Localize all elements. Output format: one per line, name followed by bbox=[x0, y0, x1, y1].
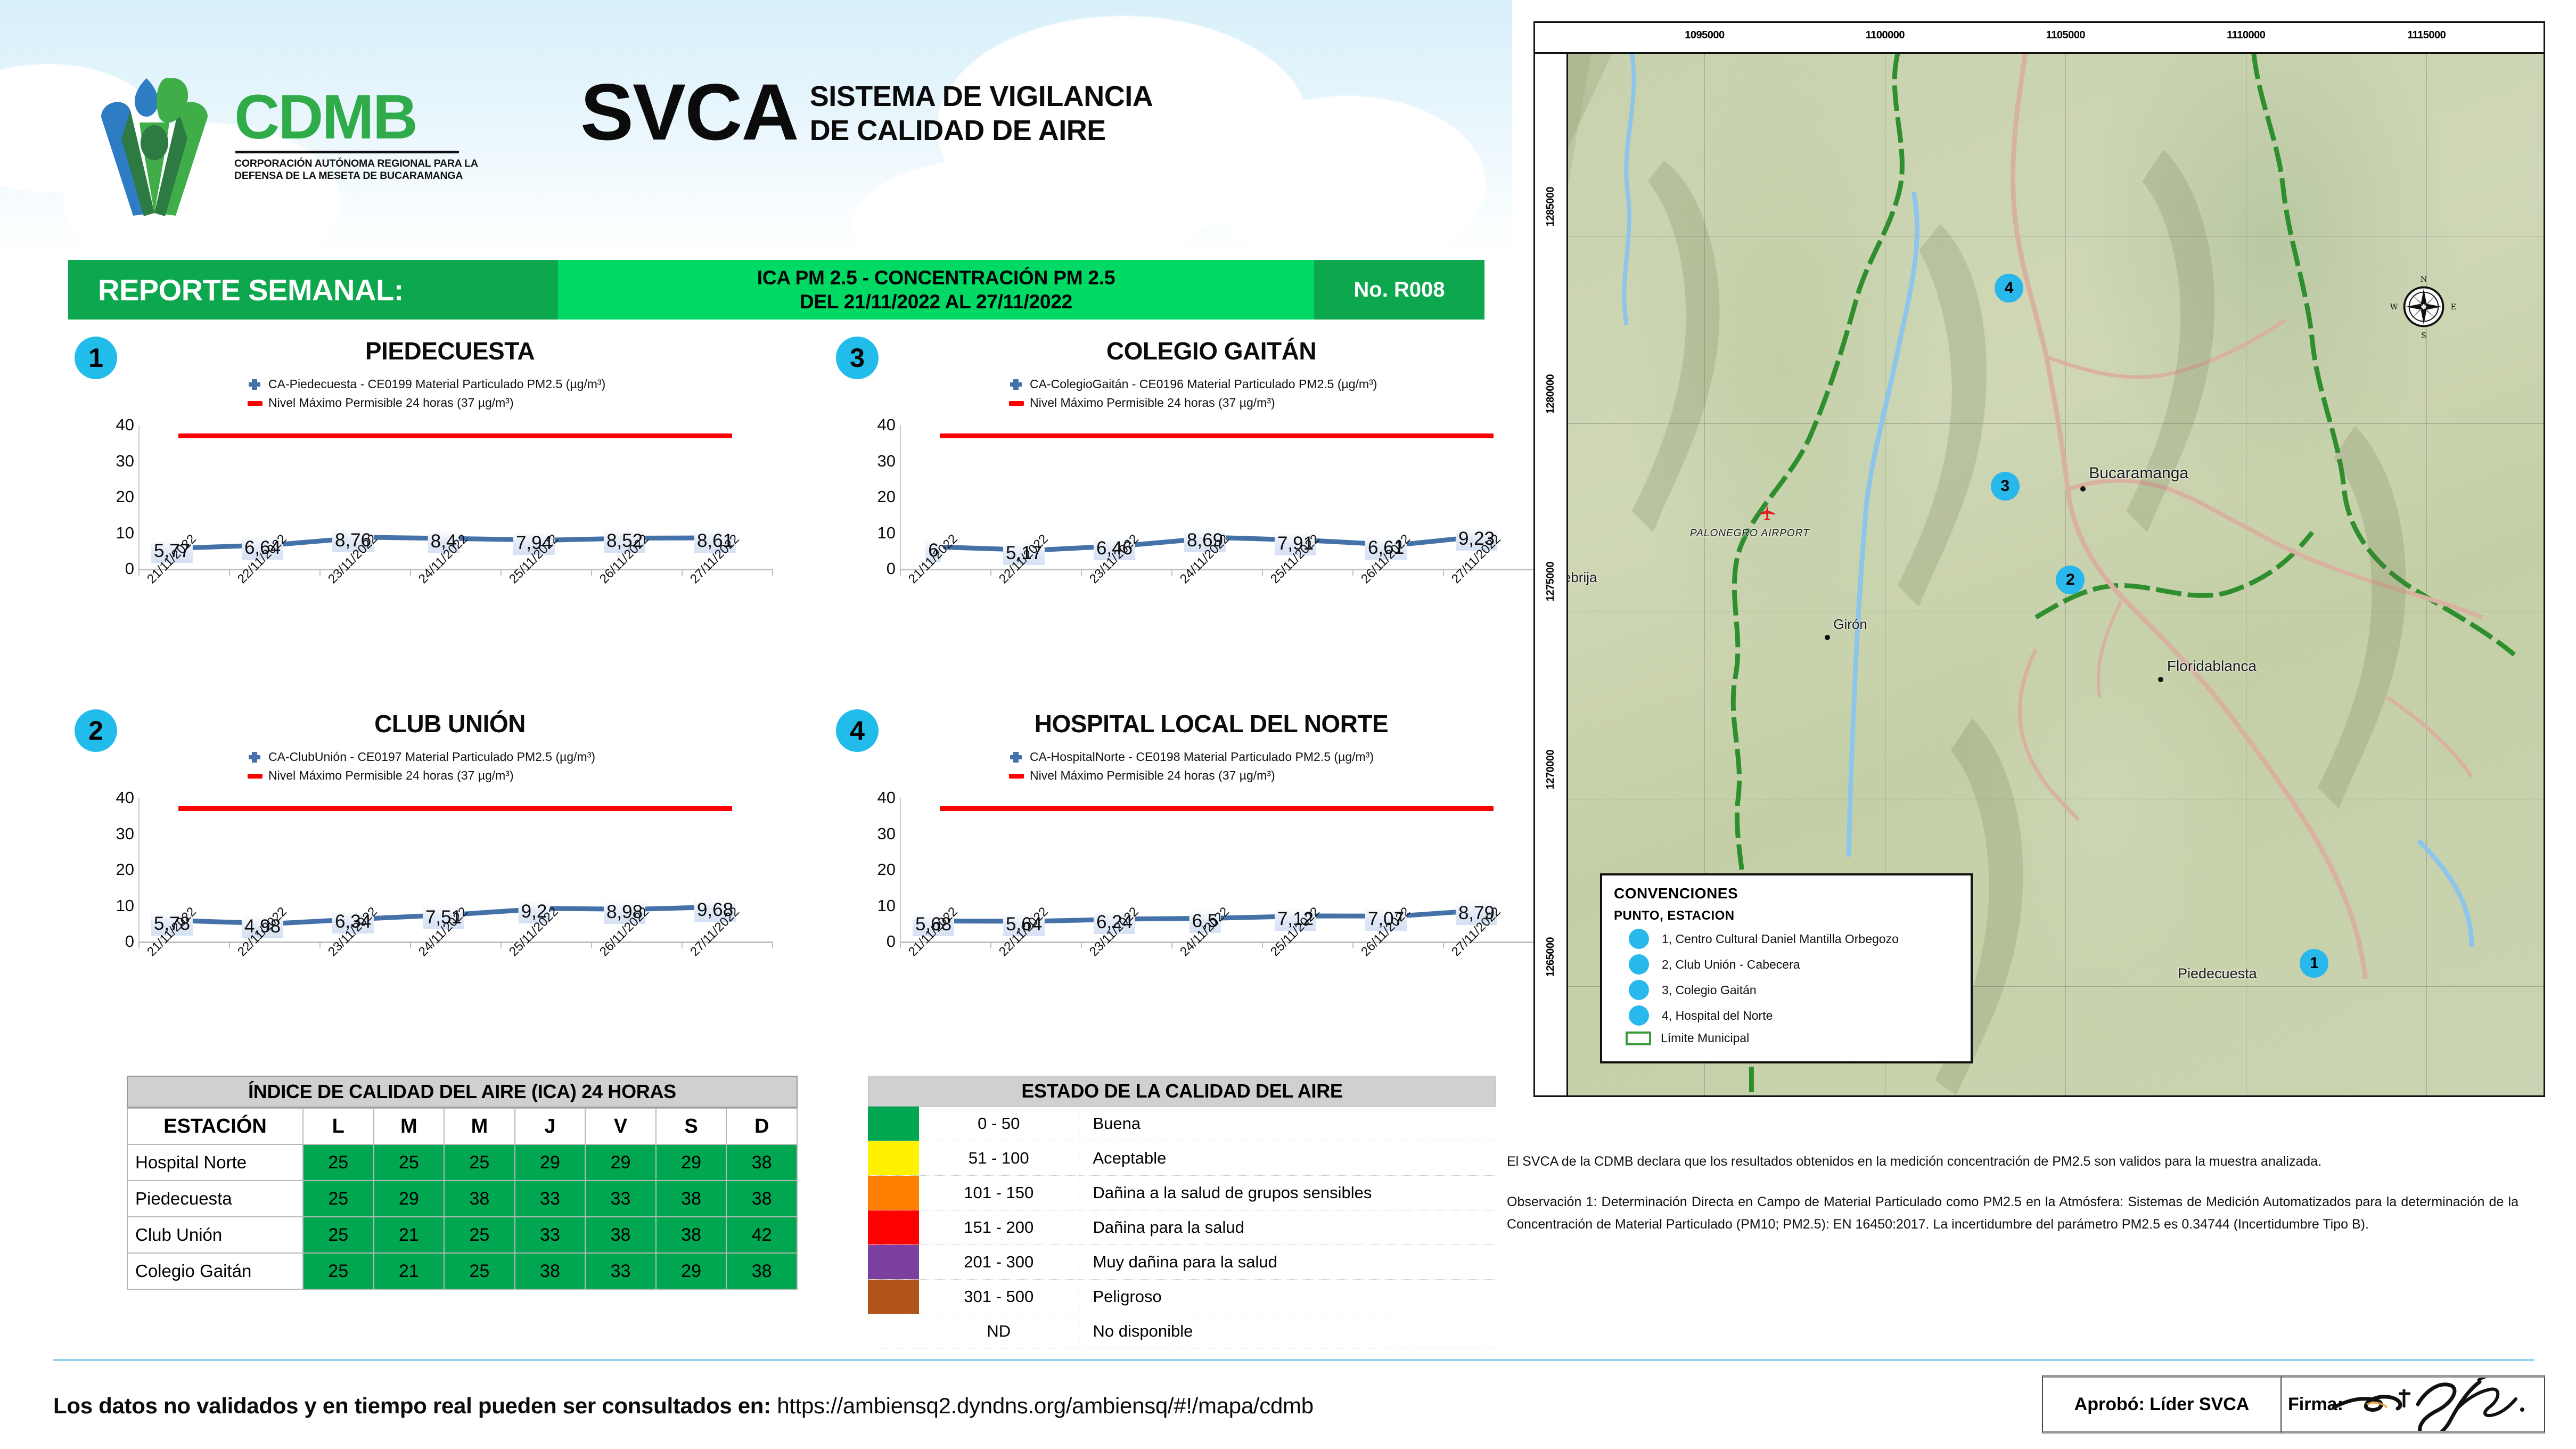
legend-entry-threshold: Nivel Máximo Permisible 24 horas (37 µg/… bbox=[248, 768, 595, 783]
chart-x-axis-labels: 21/11/202222/11/202223/11/202224/11/2022… bbox=[138, 576, 772, 661]
ica-table-grid: ESTACIÓNLMMJVSD Hospital Norte2525252929… bbox=[127, 1108, 798, 1290]
banner-report-number: No. R008 bbox=[1314, 260, 1484, 320]
map-station-marker-4[interactable]: 4 bbox=[1995, 274, 2023, 302]
list-item: NDNo disponible bbox=[868, 1314, 1496, 1348]
list-item: 301 - 500Peligroso bbox=[868, 1280, 1496, 1314]
ica-column-header: V bbox=[585, 1108, 656, 1144]
legend-entry-threshold: Nivel Máximo Permisible 24 horas (37 µg/… bbox=[1009, 768, 1374, 783]
list-item: 101 - 150Dañina a la salud de grupos sen… bbox=[868, 1176, 1496, 1210]
aq-range-label: 101 - 150 bbox=[919, 1176, 1079, 1210]
ica-value-cell: 38 bbox=[726, 1144, 797, 1181]
x-axis-tick bbox=[1081, 569, 1082, 576]
report-banner: REPORTE SEMANAL: ICA PM 2.5 - CONCENTRAC… bbox=[68, 260, 1484, 320]
x-axis-tick bbox=[591, 942, 592, 948]
x-axis-tick bbox=[682, 942, 683, 948]
banner-date-range: DEL 21/11/2022 AL 27/11/2022 bbox=[800, 290, 1072, 314]
table-row: Club Unión25212533383842 bbox=[127, 1217, 797, 1253]
ica-value-cell: 21 bbox=[374, 1253, 445, 1289]
x-axis-tick bbox=[990, 569, 991, 576]
x-axis-tick bbox=[1443, 569, 1444, 576]
chart-title: COLEGIO GAITÁN bbox=[905, 337, 1517, 365]
declaration-text: El SVCA de la CDMB declara que los resul… bbox=[1507, 1150, 2518, 1254]
conventions-station-row: 3, Colegio Gaitán bbox=[1629, 980, 1959, 1000]
ica-value-cell: 33 bbox=[515, 1217, 586, 1253]
chart-x-axis-labels: 21/11/202222/11/202223/11/202224/11/2022… bbox=[138, 949, 772, 1034]
list-item: 151 - 200Dañina para la salud bbox=[868, 1210, 1496, 1245]
chart-plot-area: 0102030405,776,648,768,47,948,528,6121/1… bbox=[96, 425, 772, 590]
ica-value-cell: 25 bbox=[444, 1144, 515, 1181]
chart-title: HOSPITAL LOCAL DEL NORTE bbox=[905, 709, 1517, 738]
declaration-paragraph-2: Observación 1: Determinación Directa en … bbox=[1507, 1191, 2518, 1235]
ica-value-cell: 25 bbox=[303, 1217, 374, 1253]
map-y-tick-label: 1285000 bbox=[1545, 187, 1557, 226]
list-item: 0 - 50Buena bbox=[868, 1107, 1496, 1141]
ica-column-header: L bbox=[303, 1108, 374, 1144]
station-location-map[interactable]: 10950001100000110500011100001115000 1285… bbox=[1533, 21, 2545, 1097]
chart-legend: CA-HospitalNorte - CE0198 Material Parti… bbox=[1009, 750, 1374, 787]
map-station-marker-1[interactable]: 1 bbox=[2300, 949, 2328, 978]
aq-range-label: ND bbox=[919, 1314, 1079, 1348]
city-dot-bucaramanga bbox=[2080, 486, 2086, 492]
chart-plot-area: 0102030405,685,646,246,57,127,078,7921/1… bbox=[857, 798, 1533, 963]
banner-parameter: ICA PM 2.5 - CONCENTRACIÓN PM 2.5 bbox=[757, 266, 1115, 290]
legend-entry-threshold: Nivel Máximo Permisible 24 horas (37 µg/… bbox=[248, 396, 605, 410]
conventions-station-row: 4, Hospital del Norte bbox=[1629, 1005, 1959, 1026]
series-marker-icon bbox=[1009, 378, 1023, 391]
legend-threshold-label: Nivel Máximo Permisible 24 horas (37 µg/… bbox=[268, 396, 514, 410]
aq-color-swatch bbox=[868, 1245, 919, 1280]
ica-value-cell: 21 bbox=[374, 1217, 445, 1253]
x-axis-tick bbox=[591, 569, 592, 576]
ica-value-cell: 38 bbox=[726, 1181, 797, 1217]
ica-value-cell: 42 bbox=[726, 1217, 797, 1253]
ica-value-cell: 38 bbox=[585, 1217, 656, 1253]
chart-panel-hospital-norte: 4HOSPITAL LOCAL DEL NORTECA-HospitalNort… bbox=[825, 703, 1581, 1076]
ica-value-cell: 25 bbox=[444, 1217, 515, 1253]
x-axis-tick bbox=[410, 942, 411, 948]
svg-text:W: W bbox=[2390, 303, 2398, 312]
compass-rose-icon: N S W E bbox=[2389, 272, 2458, 341]
series-marker-icon bbox=[1009, 750, 1023, 764]
ica-value-cell: 38 bbox=[515, 1253, 586, 1289]
chart-legend: CA-ColegioGaitán - CE0196 Material Parti… bbox=[1009, 377, 1377, 414]
threshold-marker-icon bbox=[248, 769, 261, 783]
svg-text:S: S bbox=[2421, 332, 2426, 340]
map-x-axis: 10950001100000110500011100001115000 bbox=[1535, 23, 2544, 54]
map-station-marker-3[interactable]: 3 bbox=[1991, 472, 2020, 501]
chart-plot-area: 01020304065,176,468,697,916,619,2321/11/… bbox=[857, 425, 1533, 590]
map-y-tick-label: 1275000 bbox=[1545, 562, 1557, 601]
threshold-marker-icon bbox=[1009, 396, 1023, 410]
chart-panel-colegio-gaitan: 3COLEGIO GAITÁNCA-ColegioGaitán - CE0196… bbox=[825, 330, 1581, 703]
x-axis-tick bbox=[1352, 942, 1353, 948]
chart-plot-area: 0102030405,784,986,347,519,28,989,6821/1… bbox=[96, 798, 772, 963]
airport-label: PALONEGRO AIRPORT bbox=[1690, 528, 1810, 539]
page-title: SVCA SISTEMA DE VIGILANCIA DE CALIDAD DE… bbox=[580, 72, 1153, 152]
ica-value-cell: 33 bbox=[585, 1181, 656, 1217]
ica-table: ÍNDICE DE CALIDAD DEL AIRE (ICA) 24 HORA… bbox=[127, 1076, 798, 1290]
x-axis-tick bbox=[138, 569, 140, 576]
ica-table-title: ÍNDICE DE CALIDAD DEL AIRE (ICA) 24 HORA… bbox=[127, 1076, 798, 1108]
ica-value-cell: 38 bbox=[444, 1181, 515, 1217]
cdmb-logo: CDMB CORPORACIÓN AUTÓNOMA REGIONAL PARA … bbox=[80, 59, 495, 218]
conventions-station-row: 1, Centro Cultural Daniel Mantilla Orbeg… bbox=[1629, 929, 1959, 949]
ica-table-body: Hospital Norte25252529292938Piedecuesta2… bbox=[127, 1144, 797, 1289]
table-row: Colegio Gaitán25212538332938 bbox=[127, 1253, 797, 1289]
city-label-piedecuesta: Piedecuesta bbox=[2178, 965, 2257, 982]
x-axis-tick bbox=[900, 942, 901, 948]
ica-value-cell: 29 bbox=[585, 1144, 656, 1181]
chart-x-axis-line bbox=[900, 942, 1533, 943]
logo-subtitle-line1: CORPORACIÓN AUTÓNOMA REGIONAL PARA LA bbox=[234, 158, 478, 170]
map-x-tick-label: 1115000 bbox=[2407, 29, 2446, 42]
chart-legend: CA-ClubUnión - CE0197 Material Particula… bbox=[248, 750, 595, 787]
chart-badge-4: 4 bbox=[836, 709, 879, 752]
x-axis-tick bbox=[410, 569, 411, 576]
x-axis-tick bbox=[772, 942, 773, 948]
aq-description-label: Dañina para la salud bbox=[1079, 1210, 1496, 1245]
legend-entry-series: CA-Piedecuesta - CE0199 Material Particu… bbox=[248, 377, 605, 391]
map-y-tick-label: 1270000 bbox=[1545, 749, 1557, 789]
chart-x-axis-line bbox=[900, 569, 1533, 570]
legend-threshold-label: Nivel Máximo Permisible 24 horas (37 µg/… bbox=[268, 768, 514, 783]
map-x-tick-label: 1100000 bbox=[1866, 29, 1905, 42]
ica-value-cell: 29 bbox=[656, 1144, 727, 1181]
air-quality-legend-grid: 0 - 50Buena51 - 100Aceptable101 - 150Dañ… bbox=[868, 1107, 1496, 1348]
x-axis-tick bbox=[229, 569, 230, 576]
map-x-tick-label: 1110000 bbox=[2227, 29, 2265, 42]
station-dot-icon bbox=[1629, 929, 1649, 949]
aq-description-label: Muy dañina para la salud bbox=[1079, 1245, 1496, 1280]
svg-text:E: E bbox=[2451, 303, 2456, 312]
map-y-axis: 1285000128000012750001270000126500012600… bbox=[1535, 54, 1568, 1095]
x-axis-tick bbox=[772, 569, 773, 576]
ica-value-cell: 38 bbox=[656, 1217, 727, 1253]
airplane-icon bbox=[1758, 504, 1776, 522]
ica-value-cell: 29 bbox=[656, 1253, 727, 1289]
signature-mark bbox=[2324, 1375, 2545, 1434]
map-canvas[interactable]: Bucaramanga Girón Floridablanca Piedecue… bbox=[1568, 54, 2544, 1095]
aq-range-label: 151 - 200 bbox=[919, 1210, 1079, 1245]
svg-text:N: N bbox=[2421, 275, 2427, 284]
x-axis-tick bbox=[138, 942, 140, 948]
conventions-station-label: 2, Club Unión - Cabecera bbox=[1662, 957, 1800, 972]
table-row: Hospital Norte25252529292938 bbox=[127, 1144, 797, 1181]
x-axis-tick bbox=[1352, 569, 1353, 576]
x-axis-tick bbox=[1171, 942, 1172, 948]
threshold-marker-icon bbox=[1009, 769, 1023, 783]
chart-x-axis-labels: 21/11/202222/11/202223/11/202224/11/2022… bbox=[900, 949, 1533, 1034]
ica-station-name: Hospital Norte bbox=[127, 1144, 303, 1181]
series-marker-icon bbox=[248, 750, 261, 764]
conventions-title: CONVENCIONES bbox=[1614, 885, 1959, 902]
x-axis-tick bbox=[501, 942, 502, 948]
aq-description-label: Peligroso bbox=[1079, 1280, 1496, 1314]
chart-x-axis-labels: 21/11/202222/11/202223/11/202224/11/2022… bbox=[900, 576, 1533, 661]
logo-acronym: CDMB bbox=[234, 88, 478, 146]
chart-badge-1: 1 bbox=[75, 337, 117, 379]
legend-series-label: CA-ClubUnión - CE0197 Material Particula… bbox=[268, 750, 595, 764]
conventions-station-label: 4, Hospital del Norte bbox=[1662, 1009, 1773, 1023]
ica-value-cell: 25 bbox=[303, 1144, 374, 1181]
table-row: Piedecuesta25293833333838 bbox=[127, 1181, 797, 1217]
conventions-boundary-row: Límite Municipal bbox=[1626, 1031, 1959, 1045]
aq-range-label: 51 - 100 bbox=[919, 1141, 1079, 1176]
air-quality-legend-title: ESTADO DE LA CALIDAD DEL AIRE bbox=[868, 1076, 1496, 1107]
aq-color-swatch bbox=[868, 1141, 919, 1176]
chart-badge-2: 2 bbox=[75, 709, 117, 752]
footer-divider bbox=[53, 1359, 2534, 1361]
footer-note: Los datos no validados y en tiempo real … bbox=[53, 1393, 1314, 1419]
svca-subtitle-line2: DE CALIDAD DE AIRE bbox=[810, 113, 1153, 148]
aq-description-label: Buena bbox=[1079, 1107, 1496, 1141]
chart-title: CLUB UNIÓN bbox=[144, 709, 756, 738]
legend-series-label: CA-HospitalNorte - CE0198 Material Parti… bbox=[1030, 750, 1374, 764]
ica-value-cell: 29 bbox=[515, 1144, 586, 1181]
air-quality-legend: ESTADO DE LA CALIDAD DEL AIRE 0 - 50Buen… bbox=[868, 1076, 1496, 1348]
map-y-tick-label: 1265000 bbox=[1545, 937, 1557, 976]
station-dot-icon bbox=[1629, 1005, 1649, 1026]
ica-column-header: J bbox=[515, 1108, 586, 1144]
svca-subtitle-line1: SISTEMA DE VIGILANCIA bbox=[810, 79, 1153, 113]
signature-box: Firma: bbox=[2282, 1375, 2545, 1434]
x-axis-tick bbox=[1171, 569, 1172, 576]
threshold-marker-icon bbox=[248, 396, 261, 410]
municipal-boundary-icon bbox=[1626, 1032, 1651, 1045]
ica-column-header: M bbox=[374, 1108, 445, 1144]
ica-value-cell: 25 bbox=[374, 1144, 445, 1181]
footer-url[interactable]: https://ambiensq2.dyndns.org/ambiensq/#!… bbox=[777, 1393, 1314, 1418]
aq-color-swatch bbox=[868, 1107, 919, 1141]
legend-series-label: CA-ColegioGaitán - CE0196 Material Parti… bbox=[1030, 377, 1377, 391]
city-label-floridablanca: Floridablanca bbox=[2167, 658, 2257, 675]
conventions-station-label: 3, Colegio Gaitán bbox=[1662, 983, 1757, 997]
city-label-lebrija: ebrija bbox=[1568, 569, 1597, 586]
x-axis-tick bbox=[229, 942, 230, 948]
legend-entry-series: CA-ColegioGaitán - CE0196 Material Parti… bbox=[1009, 377, 1377, 391]
ica-column-header: M bbox=[444, 1108, 515, 1144]
chart-x-axis-line bbox=[138, 569, 772, 570]
approved-by-box: Aprobó: Líder SVCA bbox=[2042, 1375, 2282, 1434]
ica-column-header: S bbox=[656, 1108, 727, 1144]
aq-color-swatch bbox=[868, 1176, 919, 1210]
aq-description-label: Aceptable bbox=[1079, 1141, 1496, 1176]
station-dot-icon bbox=[1629, 980, 1649, 1000]
chart-legend: CA-Piedecuesta - CE0199 Material Particu… bbox=[248, 377, 605, 414]
x-axis-tick bbox=[1443, 942, 1444, 948]
conventions-station-row: 2, Club Unión - Cabecera bbox=[1629, 954, 1959, 975]
series-marker-icon bbox=[248, 378, 261, 391]
ica-value-cell: 33 bbox=[585, 1253, 656, 1289]
declaration-paragraph-1: El SVCA de la CDMB declara que los resul… bbox=[1507, 1150, 2518, 1173]
map-station-marker-2[interactable]: 2 bbox=[2056, 566, 2085, 594]
ica-column-header: D bbox=[726, 1108, 797, 1144]
x-axis-tick bbox=[1081, 942, 1082, 948]
aq-color-swatch bbox=[868, 1210, 919, 1245]
ica-value-cell: 33 bbox=[515, 1181, 586, 1217]
city-label-bucaramanga: Bucaramanga bbox=[2089, 464, 2188, 482]
logo-subtitle-line2: DEFENSA DE LA MESETA DE BUCARAMANGA bbox=[234, 170, 478, 182]
map-y-tick-label: 1280000 bbox=[1545, 374, 1557, 414]
map-legend-conventions: CONVENCIONES PUNTO, ESTACION 1, Centro C… bbox=[1600, 873, 1973, 1063]
x-axis-tick bbox=[501, 569, 502, 576]
chart-title: PIEDECUESTA bbox=[144, 337, 756, 365]
ica-value-cell: 38 bbox=[726, 1253, 797, 1289]
ica-value-cell: 38 bbox=[656, 1181, 727, 1217]
aq-color-swatch bbox=[868, 1314, 919, 1348]
map-x-tick-label: 1105000 bbox=[2046, 29, 2085, 42]
legend-series-label: CA-Piedecuesta - CE0199 Material Particu… bbox=[268, 377, 605, 391]
ica-table-header-row: ESTACIÓNLMMJVSD bbox=[127, 1108, 797, 1144]
map-x-tick-label: 1095000 bbox=[1685, 29, 1724, 42]
station-dot-icon bbox=[1629, 954, 1649, 975]
conventions-station-label: 1, Centro Cultural Daniel Mantilla Orbeg… bbox=[1662, 932, 1899, 946]
aq-range-label: 0 - 50 bbox=[919, 1107, 1079, 1141]
chart-x-axis-line bbox=[138, 942, 772, 943]
list-item: 51 - 100Aceptable bbox=[868, 1141, 1496, 1176]
legend-entry-series: CA-HospitalNorte - CE0198 Material Parti… bbox=[1009, 750, 1374, 764]
svca-acronym: SVCA bbox=[580, 72, 798, 152]
x-axis-tick bbox=[990, 942, 991, 948]
chart-badge-3: 3 bbox=[836, 337, 879, 379]
x-axis-tick bbox=[1262, 569, 1263, 576]
ica-value-cell: 25 bbox=[303, 1253, 374, 1289]
x-axis-tick bbox=[319, 942, 321, 948]
x-axis-tick bbox=[1262, 942, 1263, 948]
banner-report-label: REPORTE SEMANAL: bbox=[68, 260, 558, 320]
ica-column-header: ESTACIÓN bbox=[127, 1108, 303, 1144]
legend-entry-series: CA-ClubUnión - CE0197 Material Particula… bbox=[248, 750, 595, 764]
footer-note-bold: Los datos no validados y en tiempo real … bbox=[53, 1393, 771, 1418]
cdmb-logo-mark-icon bbox=[80, 59, 229, 218]
ica-value-cell: 25 bbox=[303, 1181, 374, 1217]
legend-threshold-label: Nivel Máximo Permisible 24 horas (37 µg/… bbox=[1030, 768, 1275, 783]
chart-panel-club-union: 2CLUB UNIÓNCA-ClubUnión - CE0197 Materia… bbox=[64, 703, 820, 1076]
ica-station-name: Colegio Gaitán bbox=[127, 1253, 303, 1289]
aq-color-swatch bbox=[868, 1280, 919, 1314]
banner-period: ICA PM 2.5 - CONCENTRACIÓN PM 2.5 DEL 21… bbox=[558, 260, 1314, 320]
ica-value-cell: 25 bbox=[444, 1253, 515, 1289]
aq-range-label: 201 - 300 bbox=[919, 1245, 1079, 1280]
x-axis-tick bbox=[682, 569, 683, 576]
x-axis-tick bbox=[900, 569, 901, 576]
legend-threshold-label: Nivel Máximo Permisible 24 horas (37 µg/… bbox=[1030, 396, 1275, 410]
conventions-boundary-label: Límite Municipal bbox=[1661, 1031, 1749, 1045]
conventions-subtitle: PUNTO, ESTACION bbox=[1614, 908, 1959, 923]
chart-panel-piedecuesta: 1PIEDECUESTACA-Piedecuesta - CE0199 Mate… bbox=[64, 330, 820, 703]
aq-range-label: 301 - 500 bbox=[919, 1280, 1079, 1314]
list-item: 201 - 300Muy dañina para la salud bbox=[868, 1245, 1496, 1280]
legend-entry-threshold: Nivel Máximo Permisible 24 horas (37 µg/… bbox=[1009, 396, 1377, 410]
ica-station-name: Club Unión bbox=[127, 1217, 303, 1253]
city-label-giron: Girón bbox=[1833, 616, 1867, 633]
svca-subtitle: SISTEMA DE VIGILANCIA DE CALIDAD DE AIRE bbox=[810, 79, 1153, 148]
aq-description-label: No disponible bbox=[1079, 1314, 1496, 1348]
cloud-shape bbox=[1209, 96, 1486, 261]
ica-station-name: Piedecuesta bbox=[127, 1181, 303, 1217]
x-axis-tick bbox=[319, 569, 321, 576]
aq-description-label: Dañina a la salud de grupos sensibles bbox=[1079, 1176, 1496, 1210]
ica-value-cell: 29 bbox=[374, 1181, 445, 1217]
